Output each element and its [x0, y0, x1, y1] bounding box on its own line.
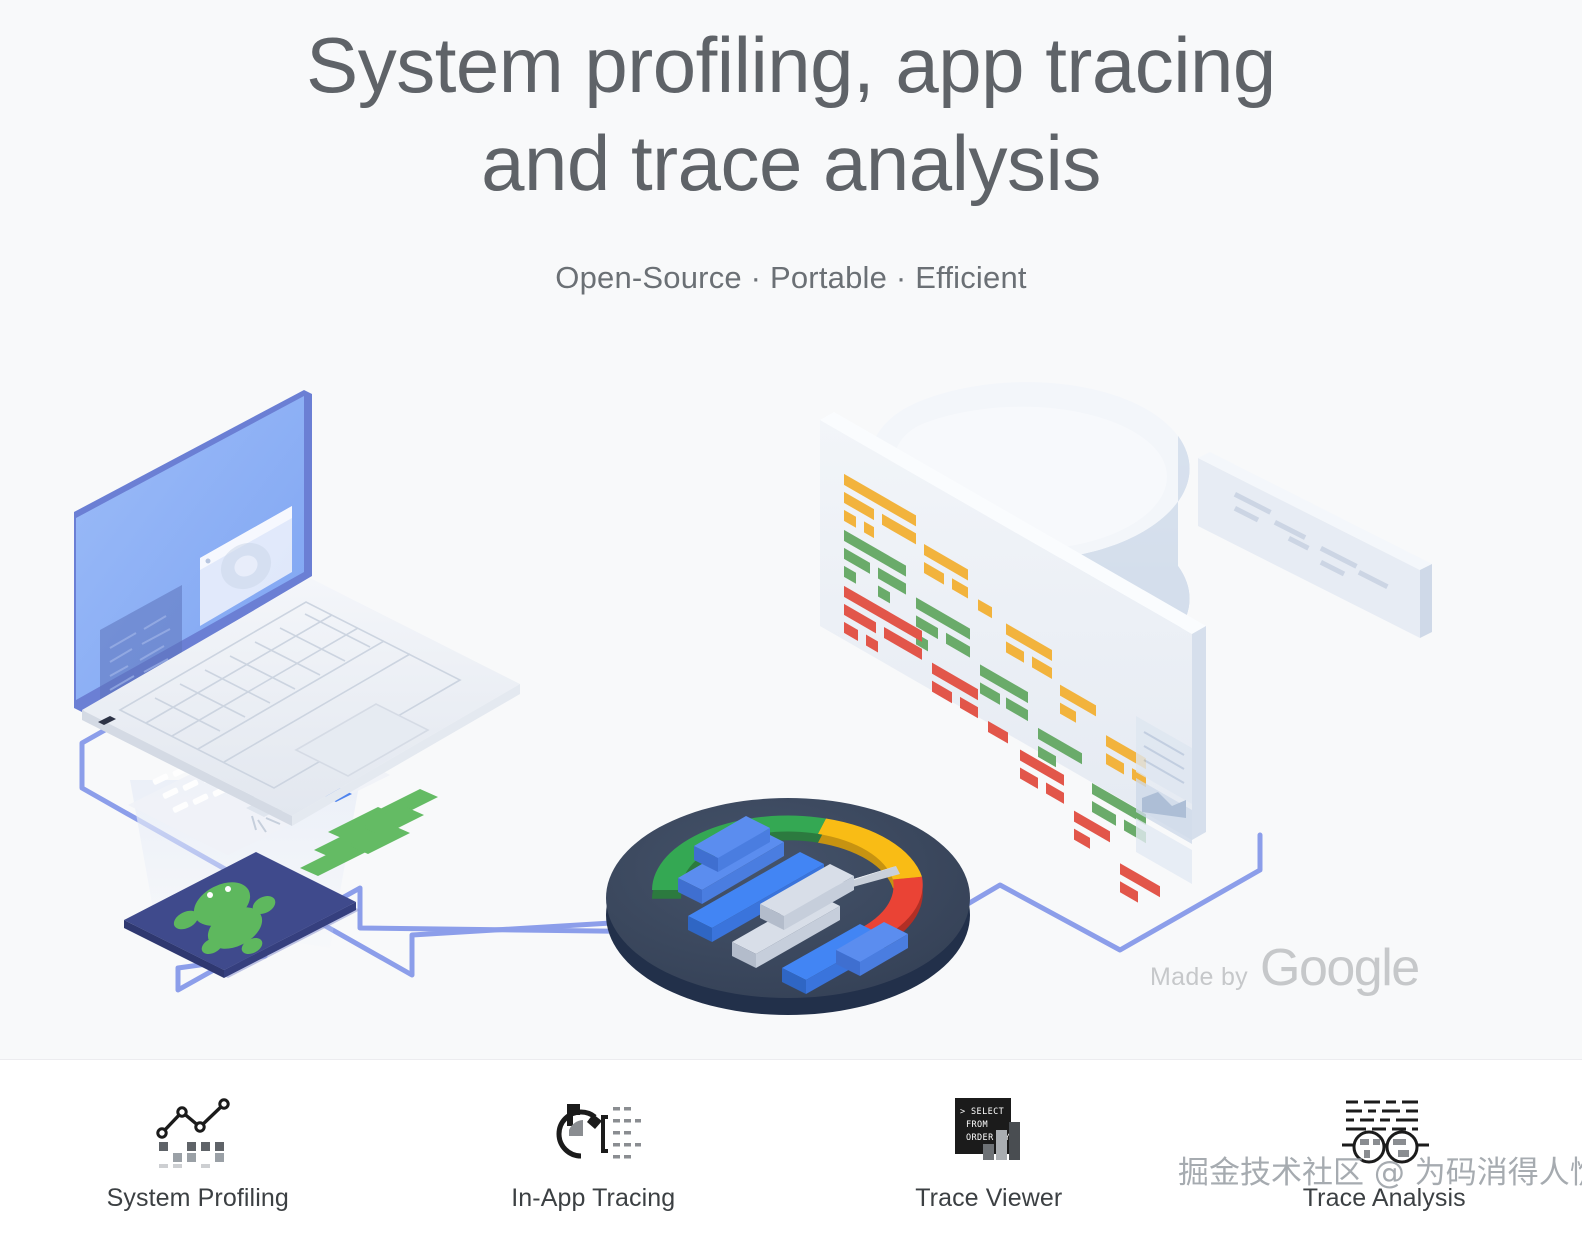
ribbon-back-slab: [1198, 452, 1432, 638]
line-chart-heatmap-icon: [150, 1090, 246, 1168]
feature-in-app-tracing[interactable]: In-App Tracing: [396, 1061, 792, 1238]
feature-strip: System Profiling: [0, 1061, 1582, 1238]
made-by-google: Made by Google: [1150, 938, 1419, 998]
glasses-trace-icon: [1336, 1090, 1432, 1168]
feature-label: Trace Viewer: [915, 1182, 1062, 1214]
terminal-line-1: > SELECT: [960, 1107, 1004, 1117]
stopwatch-trace-icon: [545, 1090, 641, 1168]
feature-trace-analysis[interactable]: Trace Analysis: [1187, 1061, 1582, 1238]
feature-trace-viewer[interactable]: > SELECT FROM ORDER BY Trace Viewer: [791, 1061, 1187, 1238]
hero-subtitle: Open-Source · Portable · Efficient: [0, 256, 1582, 300]
sql-terminal-barchart-icon: > SELECT FROM ORDER BY: [941, 1090, 1037, 1168]
hero-illustration: [60, 380, 1480, 1020]
made-by-label: Made by: [1150, 963, 1248, 992]
feature-label: In-App Tracing: [511, 1182, 675, 1214]
page-root: System profiling, app tracing and trace …: [0, 0, 1582, 1238]
feature-system-profiling[interactable]: System Profiling: [0, 1061, 396, 1238]
laptop-group: [74, 390, 520, 826]
feature-label: Trace Analysis: [1303, 1182, 1466, 1214]
isometric-illustration-svg: [60, 380, 1480, 1020]
hero-section: System profiling, app tracing and trace …: [0, 0, 1582, 1060]
google-wordmark: Google: [1260, 938, 1419, 998]
gauge-disc-group: [606, 798, 970, 1015]
terminal-line-2: FROM: [966, 1120, 988, 1130]
feature-label: System Profiling: [107, 1182, 289, 1214]
page-title: System profiling, app tracing and trace …: [0, 16, 1582, 212]
